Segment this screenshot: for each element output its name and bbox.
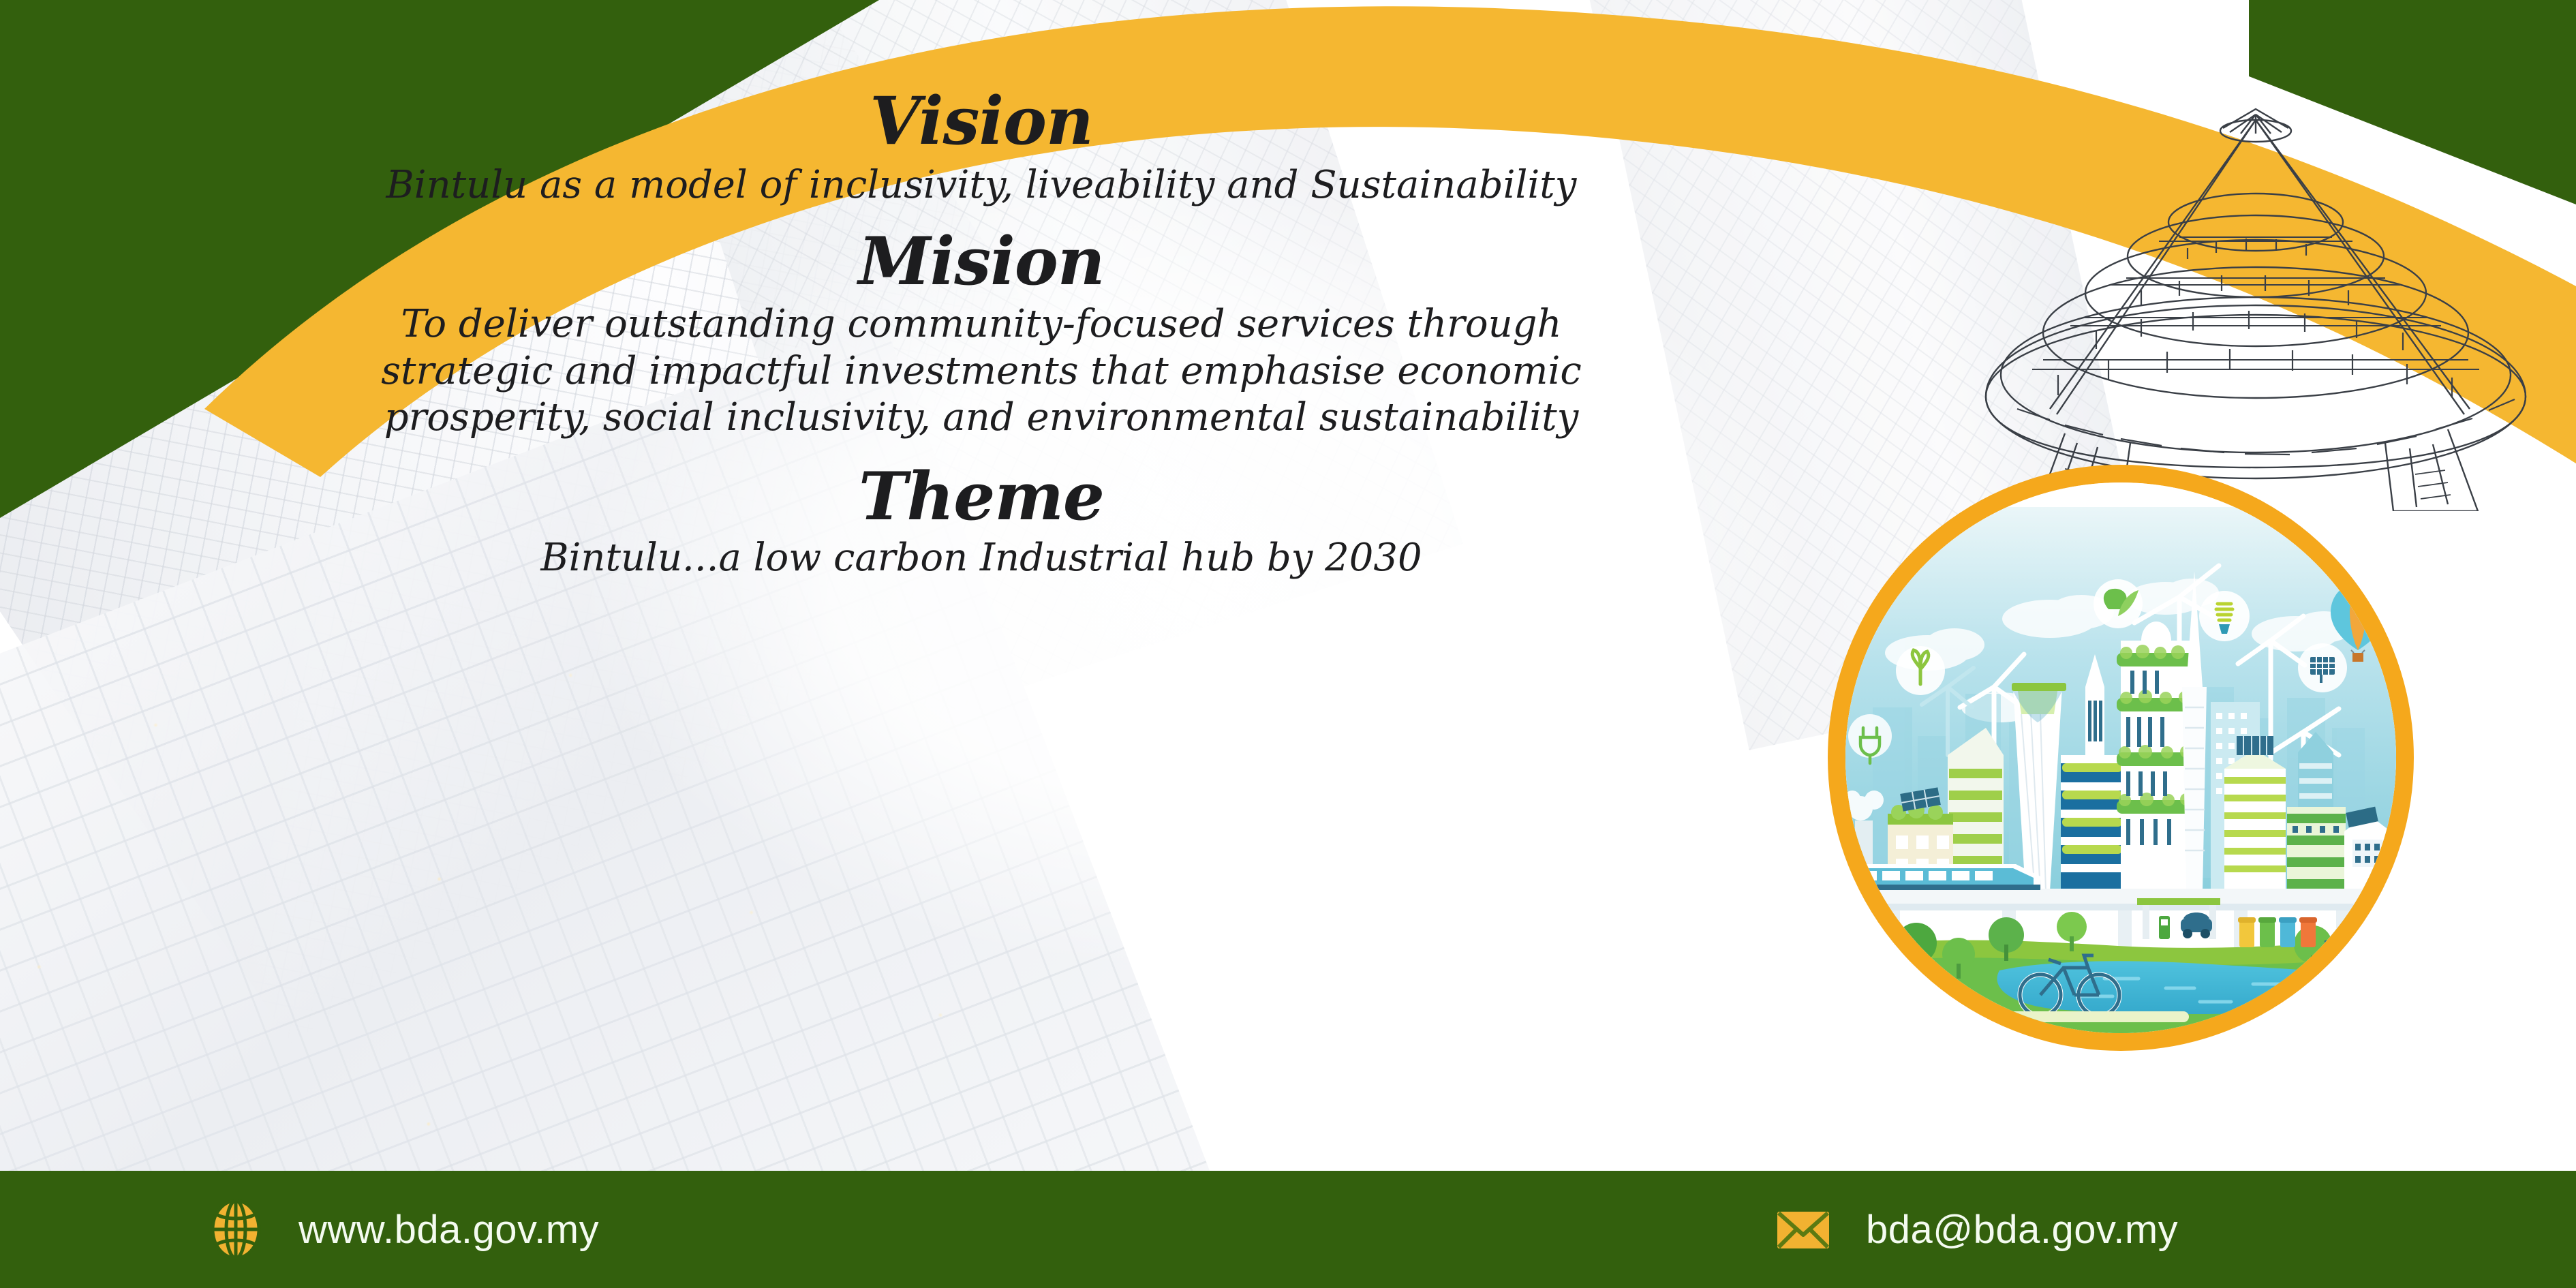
vision-statement: Bintulu as a model of inclusivity, livea…: [225, 162, 1738, 209]
banner-root: Vision Bintulu as a model of inclusivity…: [0, 0, 2576, 1288]
envelope-icon: [1772, 1198, 1835, 1261]
theme-heading: Theme: [225, 464, 1738, 530]
email-link[interactable]: bda@bda.gov.my: [1772, 1171, 2178, 1288]
eco-city-medallion: [1828, 465, 2414, 1051]
mission-line-2: strategic and impactful investments that…: [225, 348, 1738, 395]
footer-bar: www.bda.gov.my bda@bda.gov.my: [0, 1171, 2576, 1288]
eco-city-illustration: [1845, 482, 2396, 1033]
vision-heading: Vision: [225, 89, 1738, 154]
website-label: www.bda.gov.my: [298, 1207, 599, 1253]
mission-line-1: To deliver outstanding community-focused…: [225, 301, 1738, 348]
cone-building-line-art: [1963, 89, 2549, 511]
website-link[interactable]: www.bda.gov.my: [204, 1171, 599, 1288]
mission-heading: Mision: [225, 229, 1738, 294]
email-label: bda@bda.gov.my: [1866, 1207, 2178, 1253]
globe-icon: [204, 1198, 267, 1261]
mission-line-3: prosperity, social inclusivity, and envi…: [225, 395, 1738, 441]
text-content: Vision Bintulu as a model of inclusivity…: [225, 89, 1738, 582]
theme-statement: Bintulu...a low carbon Industrial hub by…: [225, 535, 1738, 581]
